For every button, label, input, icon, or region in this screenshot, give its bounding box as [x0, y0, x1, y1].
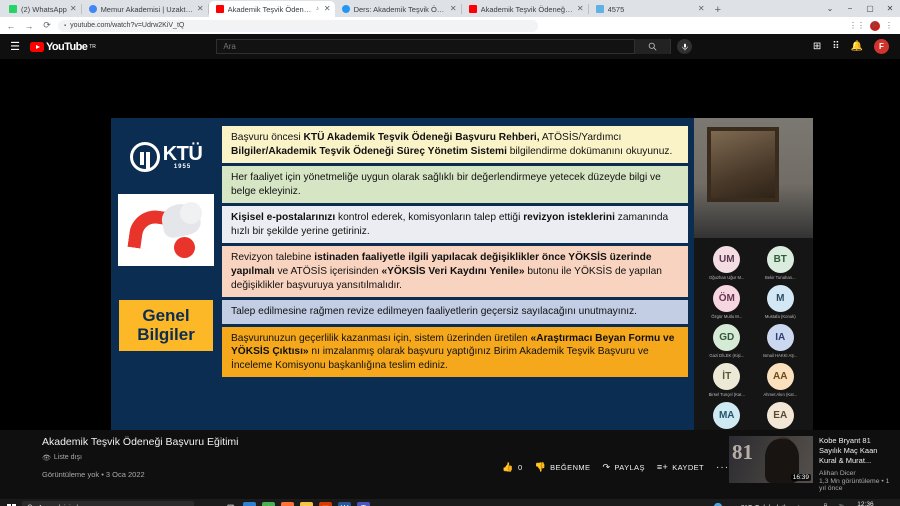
text-run: ATÖSİS/Yardımcı	[540, 132, 622, 143]
participant-item[interactable]: BTBekir Tunahan...	[754, 246, 808, 280]
tab-title: (2) WhatsApp	[21, 5, 67, 14]
slide-bullet-1: Her faaliyet için yönetmeliğe uygun olar…	[222, 166, 688, 203]
thumbs-down-icon: 👎	[535, 462, 547, 473]
cortana-icon[interactable]: ○	[205, 502, 218, 506]
question-mark-illustration	[118, 194, 214, 266]
browser-tab-3[interactable]: Ders: Akademik Teşvik Ödeneği ✕	[335, 1, 461, 17]
meet-now-icon[interactable]	[713, 502, 723, 506]
clock-time: 12:36	[851, 501, 880, 506]
participant-item[interactable]: GDGazi DİLEK (Kişi...	[700, 324, 754, 358]
participant-avatar: ÖM	[713, 285, 740, 312]
recommended-channel[interactable]: Alihan Dicer	[819, 470, 892, 477]
create-video-icon[interactable]: ⊞	[813, 41, 821, 52]
participant-item[interactable]: ÖMÖzgür Mutlu M...	[700, 285, 754, 319]
slide-sidebar: KTÜ 1955 Genel Bilgiler	[111, 118, 220, 430]
participant-name: Gazi DİLEK (Kişi...	[709, 353, 744, 358]
apps-grid-icon[interactable]: ⠿	[832, 41, 839, 52]
account-avatar[interactable]: F	[874, 39, 889, 54]
youtube-header: ☰ YouTube TR ⊞ ⠿ 🔔 F	[0, 34, 900, 59]
slide-content: Başvuru öncesi KTÜ Akademik Teşvik Ödene…	[220, 118, 694, 430]
tab-strip: (2) WhatsApp ✕ Memur Akademisi | Uzaktan…	[0, 0, 900, 17]
participant-item[interactable]: MAMERVE AYDIN	[700, 402, 754, 430]
recommended-stats: 1,3 Mn görüntüleme • 1 yıl önce	[819, 478, 892, 492]
participant-avatar: M	[767, 285, 794, 312]
bold-text-run: revizyon isteklerini	[523, 212, 615, 223]
dislike-button[interactable]: 👎 BEĞENME	[535, 462, 591, 473]
participant-item[interactable]: MMustafa (Konuk)	[754, 285, 808, 319]
tab-favicon	[596, 5, 604, 13]
teams-icon[interactable]: T	[357, 502, 370, 506]
omnibox-toolbar: ← → ⟳ ▪ youtube.com/watch?v=Udrw2KiV_tQ …	[0, 17, 900, 34]
more-actions-icon[interactable]: ···	[716, 462, 729, 473]
thumbnail-jersey-number: 81	[732, 440, 753, 465]
video-title: Akademik Teşvik Ödeneği Başvuru Eğitimi	[42, 436, 484, 450]
participant-name: Ismail HAKKI AŞ...	[763, 353, 798, 358]
tab-favicon	[216, 5, 224, 13]
microphone-icon[interactable]	[677, 39, 692, 54]
participant-item[interactable]: UMOğuzhan Uğur M...	[700, 246, 754, 280]
text-run: Talep edilmesine rağmen revize edilmeyen…	[231, 306, 637, 317]
participant-avatar: İT	[713, 363, 740, 390]
lock-icon: ▪	[64, 23, 66, 29]
browser-tab-5[interactable]: 4575 ✕	[589, 1, 709, 17]
network-icon[interactable]: 🖧	[821, 502, 829, 506]
text-run: Başvuru öncesi	[231, 132, 303, 143]
save-playlist-icon: ≡+	[657, 462, 668, 472]
tab-favicon	[469, 5, 477, 13]
tab-title: Memur Akademisi | Uzaktan Eği	[101, 5, 194, 14]
text-run: kontrol ederek, komisyonların talep etti…	[335, 212, 523, 223]
bold-text-run: «YÖKSİS Veri Kaydını Yenile»	[381, 266, 524, 277]
windows-taskbar: Aramak için buraya yazın ○❐e◉◐▤▦WT 8°C Ç…	[0, 499, 900, 506]
ktu-year: 1955	[163, 164, 203, 170]
hamburger-menu-icon[interactable]: ☰	[8, 40, 22, 53]
task-view-icon[interactable]: ❐	[224, 502, 237, 506]
participant-item[interactable]: EAARİF Aydıngün (Sınıf...	[754, 402, 808, 430]
participant-avatar: MA	[713, 402, 740, 429]
visibility-badge: 👁 Liste dışı	[42, 454, 82, 462]
tab-favicon	[9, 5, 17, 13]
participant-name: Mustafa (Konuk)	[765, 314, 796, 319]
like-count: 0	[518, 463, 523, 472]
maximize-button[interactable]: ▢	[860, 4, 880, 13]
notifications-bell-icon[interactable]: 🔔	[851, 41, 863, 52]
participant-avatar: BT	[767, 246, 794, 273]
video-metadata: Akademik Teşvik Ödeneği Başvuru Eğitimi …	[0, 436, 484, 499]
play-icon	[30, 42, 44, 52]
bold-text-run: Kişisel e-postalarınızı	[231, 212, 335, 223]
share-label: PAYLAŞ	[614, 463, 644, 472]
browser-menu-icon[interactable]: ⋮	[885, 21, 893, 30]
save-label: KAYDET	[672, 463, 704, 472]
taskbar-clock[interactable]: 12:36 3.01.2022	[851, 501, 880, 506]
forward-icon[interactable]: →	[22, 21, 36, 31]
eye-icon: 👁	[42, 454, 51, 462]
youtube-logo[interactable]: YouTube TR	[30, 41, 96, 53]
recommended-video[interactable]: 81 16:39 Kobe Bryant 81 Sayılık Maç Kaan…	[729, 436, 900, 499]
share-button[interactable]: ↷ PAYLAŞ	[602, 462, 644, 473]
extensions-icon[interactable]: ⋮⋮	[849, 21, 865, 30]
header-actions: ⊞ ⠿ 🔔 F	[813, 39, 892, 54]
browser-tab-0[interactable]: (2) WhatsApp ✕	[2, 1, 81, 17]
slide-bullet-0: Başvuru öncesi KTÜ Akademik Teşvik Ödene…	[222, 126, 688, 163]
participant-grid: UMOğuzhan Uğur M...BTBekir Tunahan...ÖMÖ…	[694, 246, 813, 430]
reload-icon[interactable]: ⟳	[40, 20, 54, 31]
close-icon[interactable]: ✕	[70, 5, 77, 13]
video-info-bar: Akademik Teşvik Ödeneği Başvuru Eğitimi …	[0, 430, 900, 499]
text-run: Revizyon talebine	[231, 252, 314, 263]
video-stats: Görüntüleme yok • 3 Oca 2022	[42, 470, 484, 479]
taskbar-app-icons: ○❐e◉◐▤▦WT	[205, 502, 370, 506]
ktu-name: KTÜ	[163, 144, 203, 164]
participant-name: Özgür Mutlu M...	[711, 314, 742, 319]
search-box[interactable]	[216, 39, 671, 54]
browser-tab-1[interactable]: Memur Akademisi | Uzaktan Eği ✕	[82, 1, 208, 17]
picture-content	[711, 131, 775, 198]
tab-audio-icon[interactable]: ♪	[316, 6, 319, 12]
search-input[interactable]	[217, 42, 634, 51]
close-icon[interactable]: ✕	[450, 5, 457, 13]
chrome-icon[interactable]: ◉	[262, 502, 275, 506]
tab-title: 4575	[608, 5, 695, 14]
tab-favicon	[89, 5, 97, 13]
recommended-thumbnail[interactable]: 81 16:39	[729, 436, 813, 483]
slide-section-label: Genel Bilgiler	[119, 300, 213, 351]
share-icon: ↷	[602, 462, 610, 473]
thumbs-up-icon: 👍	[502, 462, 514, 473]
slide-bullet-3: Revizyon talebine istinaden faaliyetle i…	[222, 246, 688, 297]
window-close-button[interactable]: ✕	[880, 4, 900, 13]
ktu-logo: KTÜ 1955	[130, 142, 203, 172]
browser-chrome: (2) WhatsApp ✕ Memur Akademisi | Uzaktan…	[0, 0, 900, 34]
ktu-emblem-icon	[130, 142, 160, 172]
participants-panel: UMOğuzhan Uğur M...BTBekir Tunahan...ÖMÖ…	[694, 118, 813, 430]
close-icon[interactable]: ✕	[197, 5, 204, 13]
text-run: ve ATÖSİS içerisinden	[275, 266, 382, 277]
presentation-slide: KTÜ 1955 Genel Bilgiler Başvuru öncesi K…	[111, 118, 694, 430]
close-icon[interactable]: ✕	[324, 5, 331, 13]
back-icon[interactable]: ←	[4, 21, 18, 31]
minimize-button[interactable]: −	[840, 4, 860, 13]
slide-bullet-5: Başvurunuzun geçerlilik kazanması için, …	[222, 327, 688, 378]
participant-avatar: AA	[767, 363, 794, 390]
save-button[interactable]: ≡+ KAYDET	[657, 462, 704, 472]
word-icon[interactable]: W	[338, 502, 351, 506]
like-button[interactable]: 👍 0	[502, 462, 522, 473]
visibility-label: Liste dışı	[54, 454, 82, 461]
text-run: Başvurunuzun geçerlilik kazanması için, …	[231, 333, 531, 344]
ktu-wordmark: KTÜ 1955	[163, 144, 203, 170]
question-dot-shape	[174, 237, 195, 258]
edge-icon[interactable]: e	[243, 502, 256, 506]
tab-title: Akademik Teşvik Ödeneği E	[228, 5, 314, 14]
pdf-icon[interactable]: ▦	[319, 502, 332, 506]
bold-text-run: KTÜ Akademik Teşvik Ödeneği Başvuru Rehb…	[303, 132, 539, 143]
slide-bullet-2: Kişisel e-postalarınızı kontrol ederek, …	[222, 206, 688, 243]
address-bar-url: youtube.com/watch?v=Udrw2KiV_tQ	[70, 22, 184, 29]
text-run: Her faaliyet için yönetmeliğe uygun olar…	[231, 172, 661, 197]
participant-item[interactable]: AAAhmet Akın (Kat...	[754, 363, 808, 397]
dislike-label: BEĞENME	[550, 463, 590, 472]
bold-text-run: Bilgiler/Akademik Teşvik Ödeneği Süreç Y…	[231, 146, 507, 157]
slide-bullet-4: Talep edilmesine rağmen revize edilmeyen…	[222, 300, 688, 324]
figure-head-shape	[180, 202, 202, 224]
recommended-metadata: Kobe Bryant 81 Sayılık Maç Kaan Kural & …	[819, 436, 892, 499]
address-bar[interactable]: ▪ youtube.com/watch?v=Udrw2KiV_tQ	[58, 20, 538, 32]
participant-name: Bekir Tunahan...	[765, 275, 796, 280]
tab-search-icon[interactable]: ⌄	[820, 4, 840, 13]
explorer-icon[interactable]: ▤	[300, 502, 313, 506]
video-actions: 👍 0 👎 BEĞENME ↷ PAYLAŞ ≡+ KAYDET ···	[502, 462, 729, 499]
browser-tab-2[interactable]: Akademik Teşvik Ödeneği E ♪ ✕	[209, 1, 335, 17]
youtube-country-code: TR	[89, 44, 96, 50]
video-duration: 16:39	[791, 474, 811, 481]
video-player[interactable]: KTÜ 1955 Genel Bilgiler Başvuru öncesi K…	[0, 59, 900, 430]
window-controls: ⌄ − ▢ ✕	[820, 0, 900, 17]
participant-item[interactable]: İTBirsel Tunçel (Kat...	[700, 363, 754, 397]
search-area	[216, 39, 692, 54]
participant-name: Birsel Tunçel (Kat...	[709, 392, 745, 397]
firefox-icon[interactable]: ◐	[281, 502, 294, 506]
recommended-title[interactable]: Kobe Bryant 81 Sayılık Maç Kaan Kural & …	[819, 436, 892, 466]
system-tray: 8°C Çok bulutlu ⌃ ☁ 🖧 🔊 12:36 3.01.2022 …	[713, 501, 897, 506]
profile-avatar[interactable]: F	[870, 21, 880, 31]
participant-avatar: IA	[767, 324, 794, 351]
taskbar-search[interactable]: Aramak için buraya yazın	[22, 501, 194, 506]
participant-avatar: EA	[767, 402, 794, 429]
text-run: bilgilendirme dokümanını okuyunuz.	[507, 146, 672, 157]
search-icon[interactable]	[634, 39, 670, 54]
new-tab-button[interactable]: +	[709, 3, 727, 17]
browser-tab-4[interactable]: Akademik Teşvik Ödeneği Başv ✕	[462, 1, 588, 17]
participant-avatar: UM	[713, 246, 740, 273]
participant-item[interactable]: IAIsmail HAKKI AŞ...	[754, 324, 808, 358]
participant-name: Oğuzhan Uğur M...	[709, 275, 744, 280]
participant-name: Ahmet Akın (Kat...	[763, 392, 797, 397]
tab-title: Akademik Teşvik Ödeneği Başv	[481, 5, 574, 14]
tab-title: Ders: Akademik Teşvik Ödeneği	[354, 5, 447, 14]
close-icon[interactable]: ✕	[698, 5, 705, 13]
framed-picture	[707, 127, 779, 202]
tab-favicon	[342, 5, 350, 13]
omnibox-actions: ⋮⋮ F ⋮	[849, 21, 896, 31]
participant-avatar: GD	[713, 324, 740, 351]
close-icon[interactable]: ✕	[577, 5, 584, 13]
youtube-wordmark: YouTube	[46, 41, 87, 53]
